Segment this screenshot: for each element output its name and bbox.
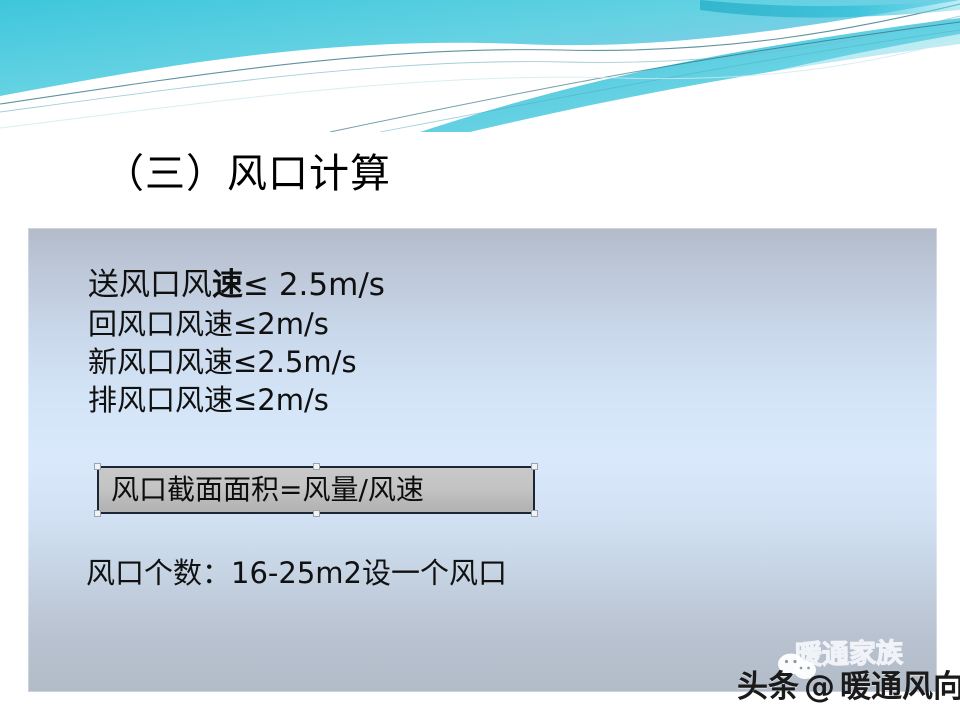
slide-header-banner [0, 0, 960, 132]
list-item: 送风口风速≤ 2.5m/s [88, 266, 385, 305]
list-item: 排风口风速≤2m/s [88, 381, 385, 419]
at-symbol-icon: @ [804, 670, 835, 704]
air-velocity-list: 送风口风速≤ 2.5m/s 回风口风速≤2m/s 新风口风速≤2.5m/s 排风… [88, 266, 385, 419]
resize-handle-top-left[interactable] [94, 463, 101, 470]
content-panel: 送风口风速≤ 2.5m/s 回风口风速≤2m/s 新风口风速≤2.5m/s 排风… [28, 228, 937, 692]
resize-handle-top-center[interactable] [313, 463, 320, 470]
formula-text: 风口截面面积=风量/风速 [99, 474, 424, 506]
resize-handle-bottom-right[interactable] [531, 510, 538, 517]
opening-count-note: 风口个数：16-25m2设一个风口 [86, 555, 507, 591]
resize-handle-top-right[interactable] [531, 463, 538, 470]
formula-textbox[interactable]: 风口截面面积=风量/风速 [97, 466, 535, 514]
speed-line-1-bold: 速 [212, 267, 243, 303]
list-item: 回风口风速≤2m/s [88, 305, 385, 343]
list-item: 新风口风速≤2.5m/s [88, 343, 385, 381]
resize-handle-bottom-left[interactable] [94, 510, 101, 517]
banner-swoosh-graphic [0, 0, 960, 132]
resize-handle-bottom-center[interactable] [313, 510, 320, 517]
presentation-slide: （三）风口计算 送风口风速≤ 2.5m/s 回风口风速≤2m/s 新风口风速≤2… [0, 0, 960, 720]
speed-line-1-suffix: ≤ 2.5m/s [243, 267, 385, 303]
toutiao-label: 头条 [737, 670, 799, 704]
page-title: （三）风口计算 [104, 150, 391, 198]
account-name: 暖通风向标 [840, 670, 960, 704]
toutiao-watermark: 头条 @ 暖通风向标 [737, 670, 960, 704]
speed-line-1-prefix: 送风口风 [88, 267, 212, 303]
